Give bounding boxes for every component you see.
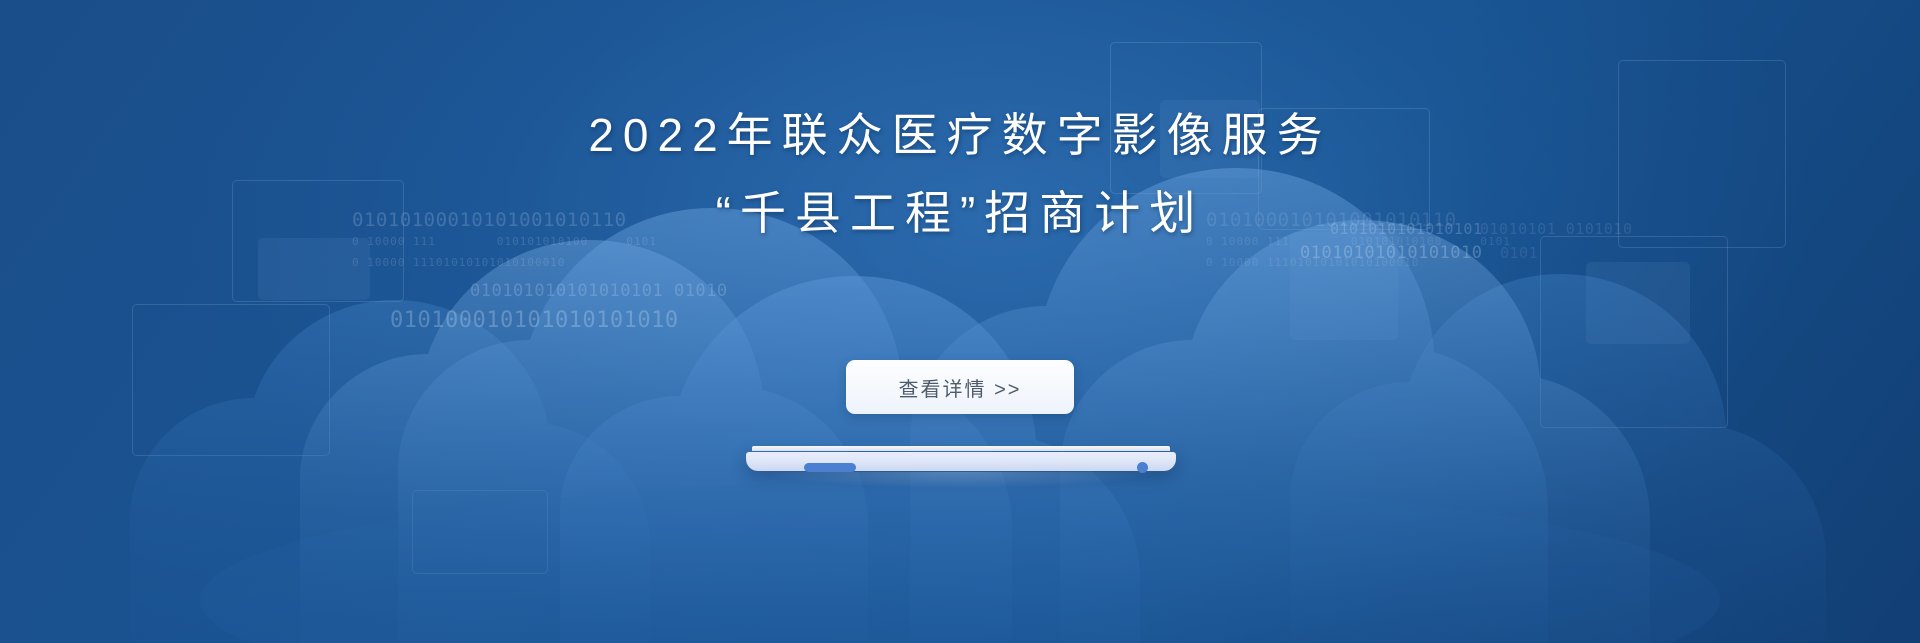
banner-title: 2022年联众医疗数字影像服务 “千县工程”招商计划 xyxy=(0,96,1920,252)
title-line-1: 2022年联众医疗数字影像服务 xyxy=(0,96,1920,174)
laptop-glow xyxy=(768,472,1154,488)
laptop-base-illustration xyxy=(746,446,1176,478)
binary-decor-left-low: 010100010101010101010 xyxy=(390,304,679,338)
binary-decor-left-mid: 010101010101010101 01010 xyxy=(470,278,728,304)
hero-banner: 01010100010101001010110 0 10000 111 0101… xyxy=(0,0,1920,643)
touchpad-bar-icon xyxy=(804,463,856,472)
laptop-screen-lip xyxy=(752,446,1170,451)
view-details-button[interactable]: 查看详情 >> xyxy=(846,360,1074,414)
view-details-button-label: 查看详情 >> xyxy=(899,373,1022,402)
title-line-2: “千县工程”招商计划 xyxy=(0,174,1920,252)
laptop-body xyxy=(746,452,1176,471)
binary-decor-left-small-2: 0 10000 11101010101010100010 xyxy=(352,256,565,269)
